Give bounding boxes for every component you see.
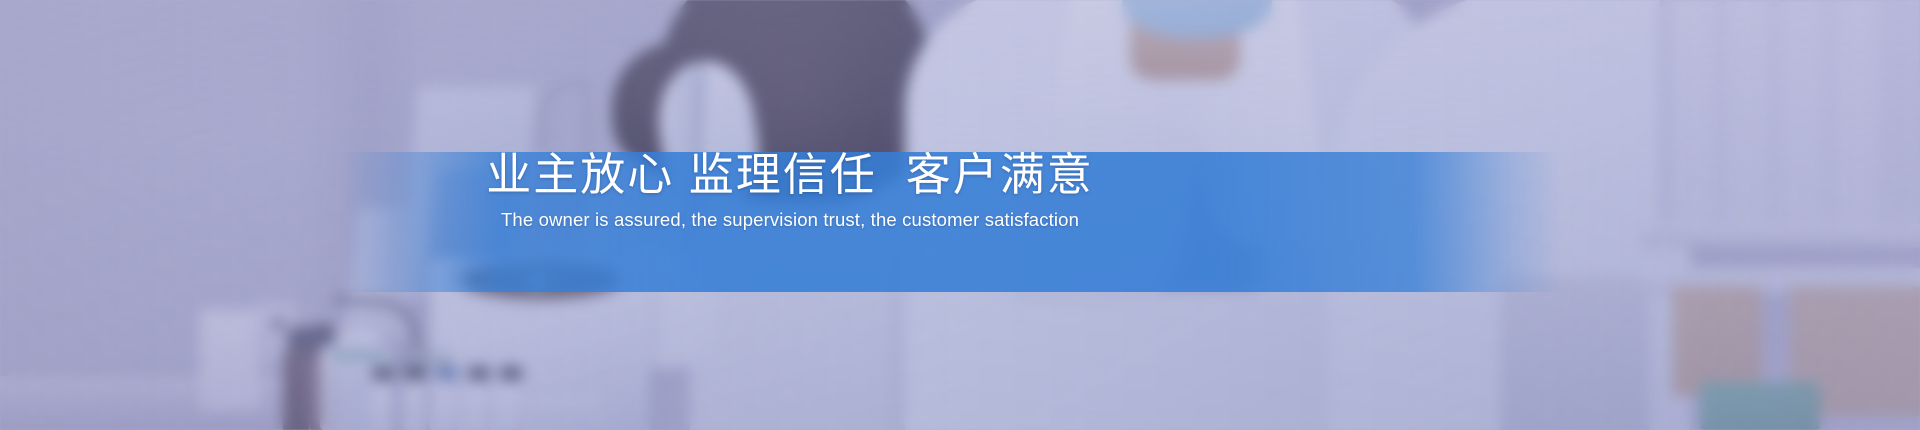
slogan-headline: 业主放心 监理信任 客户满意: [0, 150, 1580, 200]
slogan-subheadline: The owner is assured, the supervision tr…: [0, 209, 1580, 231]
hero-banner: 业主放心 监理信任 客户满意 The owner is assured, the…: [0, 0, 1920, 430]
slogan-block: 业主放心 监理信任 客户满意 The owner is assured, the…: [0, 150, 1580, 231]
